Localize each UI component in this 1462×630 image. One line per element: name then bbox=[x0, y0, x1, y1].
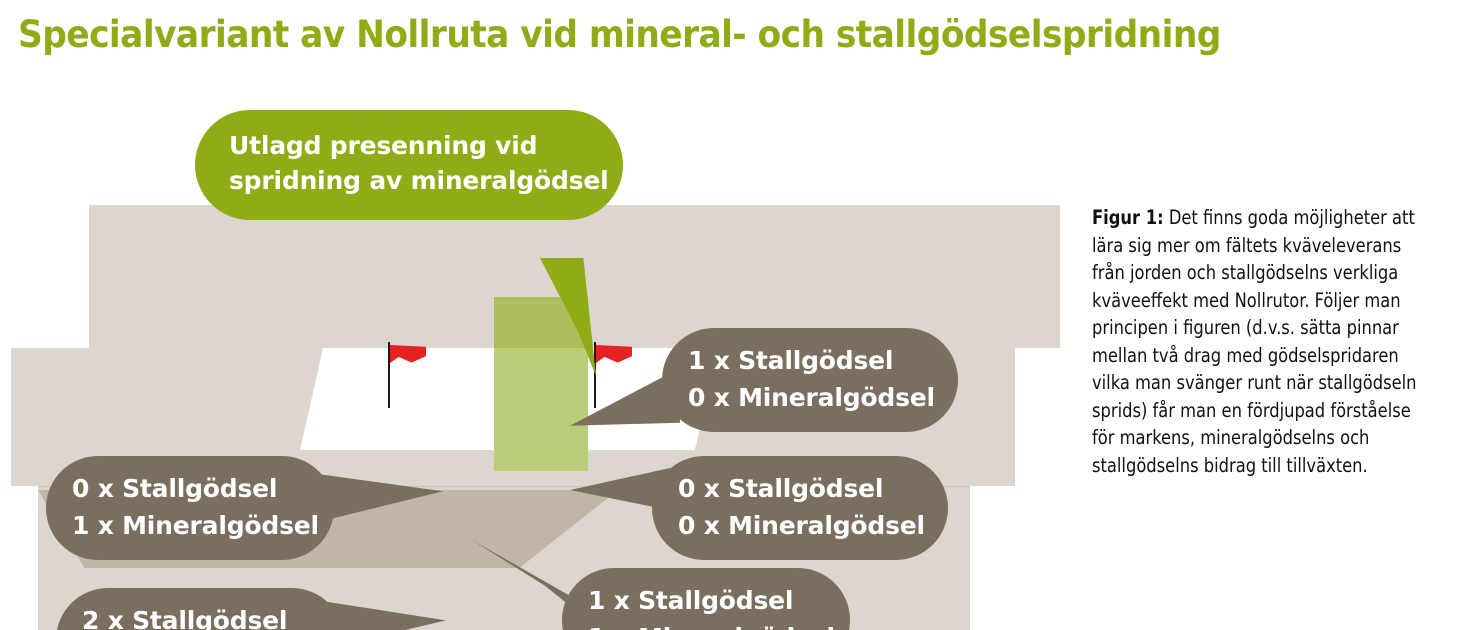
callout-zero-manure-one-mineral: 0 x Stallgödsel 1 x Mineralgödsel bbox=[46, 456, 334, 560]
figure-caption-text: Det finns goda möjligheter att lära sig … bbox=[1092, 206, 1416, 477]
callout-body: 0 x Stallgödsel 0 x Mineralgödsel bbox=[652, 456, 948, 560]
callout-one-manure-zero-mineral: 1 x Stallgödsel 0 x Mineralgödsel bbox=[662, 328, 958, 432]
figure-page: Specialvariant av Nollruta vid mineral- … bbox=[0, 0, 1462, 630]
callout-line-1: 1 x Stallgödsel bbox=[588, 582, 824, 619]
callout-line-2: spridning av mineralgödsel bbox=[229, 163, 593, 198]
callout-line-1: 2 x Stallgödsel bbox=[82, 602, 318, 630]
callout-line-1: 0 x Stallgödsel bbox=[72, 470, 308, 507]
callout-zero-manure-zero-mineral: 0 x Stallgödsel 0 x Mineralgödsel bbox=[652, 456, 948, 560]
callout-line-2: 1 x Mineralgödsel bbox=[72, 507, 308, 544]
callout-line-1: 1 x Stallgödsel bbox=[688, 342, 932, 379]
figure-caption-label: Figur 1: bbox=[1092, 206, 1164, 229]
callout-body: 1 x Stallgödsel 1 x Mineralgödsel bbox=[562, 568, 850, 630]
page-title: Specialvariant av Nollruta vid mineral- … bbox=[18, 12, 1320, 58]
callout-two-manure-one-mineral: 2 x Stallgödsel 1 x Mineralgödsel bbox=[56, 588, 344, 630]
callout-one-manure-one-mineral: 1 x Stallgödsel 1 x Mineralgödsel bbox=[562, 568, 850, 630]
flag-banner bbox=[596, 345, 632, 363]
callout-body: Utlagd presenning vid spridning av miner… bbox=[195, 110, 623, 220]
callout-body: 1 x Stallgödsel 0 x Mineralgödsel bbox=[662, 328, 958, 432]
flag-banner bbox=[390, 345, 426, 363]
callout-line-1: Utlagd presenning vid bbox=[229, 128, 593, 163]
figure-caption: Figur 1: Det finns goda möjligheter att … bbox=[1092, 204, 1419, 479]
callout-line-2: 1 x Mineralgödsel bbox=[588, 619, 824, 630]
flag-pole bbox=[388, 342, 390, 408]
callout-line-1: 0 x Stallgödsel bbox=[678, 470, 922, 507]
tarpaulin-lower-half bbox=[494, 348, 588, 471]
callout-body: 2 x Stallgödsel 1 x Mineralgödsel bbox=[56, 588, 344, 630]
callout-body: 0 x Stallgödsel 1 x Mineralgödsel bbox=[46, 456, 334, 560]
flag-marker-left-icon bbox=[388, 342, 428, 408]
callout-line-2: 0 x Mineralgödsel bbox=[678, 507, 922, 544]
callout-tarpaulin: Utlagd presenning vid spridning av miner… bbox=[195, 110, 623, 220]
callout-line-2: 0 x Mineralgödsel bbox=[688, 379, 932, 416]
field-illustration: Utlagd presenning vid spridning av miner… bbox=[0, 90, 1075, 630]
